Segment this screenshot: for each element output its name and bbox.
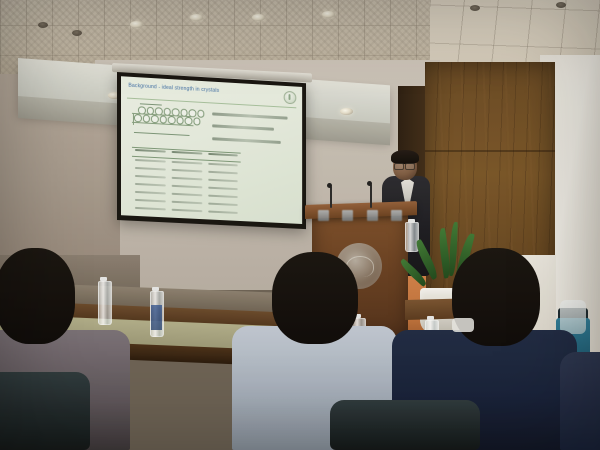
bottle-cap (152, 287, 159, 291)
equation-line-3 (212, 137, 280, 144)
recessed-downlight (130, 21, 143, 28)
lectern-microphone-right (370, 184, 372, 208)
table-row (132, 206, 241, 211)
recessed-downlight (72, 30, 82, 36)
presenter-glasses (394, 163, 414, 168)
equation-line-2 (212, 124, 273, 131)
water-bottle-1 (98, 281, 112, 325)
recessed-downlight (322, 11, 335, 18)
table-row (132, 158, 241, 164)
presentation-slide: Background - ideal strength in crystals (121, 76, 302, 224)
recessed-downlight (38, 22, 48, 28)
conference-room-photo: Background - ideal strength in crystals (0, 0, 600, 450)
recessed-downlight (556, 2, 566, 8)
recessed-downlight (340, 108, 353, 115)
wood-panel-seam (425, 150, 555, 152)
bottle-cap (100, 277, 107, 281)
recessed-downlight (252, 14, 265, 21)
table-row (132, 174, 241, 180)
chair-front-left (0, 372, 90, 450)
table-row (132, 182, 241, 188)
lectern-microphone-left (330, 186, 332, 208)
equation-line-1 (212, 112, 288, 119)
microphone-head-right (367, 181, 372, 186)
lectern-institution-characters (318, 208, 402, 222)
university-seal-logo-icon (283, 91, 296, 105)
bottle-label (151, 305, 162, 330)
chair-center (330, 400, 480, 450)
crystal-lattice-shear-diagram (132, 102, 212, 145)
presenter-hair (391, 150, 419, 164)
face-mask (452, 318, 474, 332)
table-row (132, 198, 241, 203)
table-row (132, 190, 241, 196)
recessed-downlight (190, 14, 203, 21)
audience-member-far-right-body (560, 352, 600, 450)
bottle-cap (427, 316, 434, 320)
water-jug (560, 300, 586, 334)
projection-screen: Background - ideal strength in crystals (117, 72, 306, 229)
bottle-cap (408, 219, 415, 223)
microphone-head-left (327, 183, 332, 188)
materials-data-table (132, 146, 241, 152)
audience-member-center-head (272, 252, 358, 344)
recessed-downlight (470, 5, 480, 11)
audience-member-front-left-head (0, 248, 75, 344)
table-row (132, 166, 241, 172)
